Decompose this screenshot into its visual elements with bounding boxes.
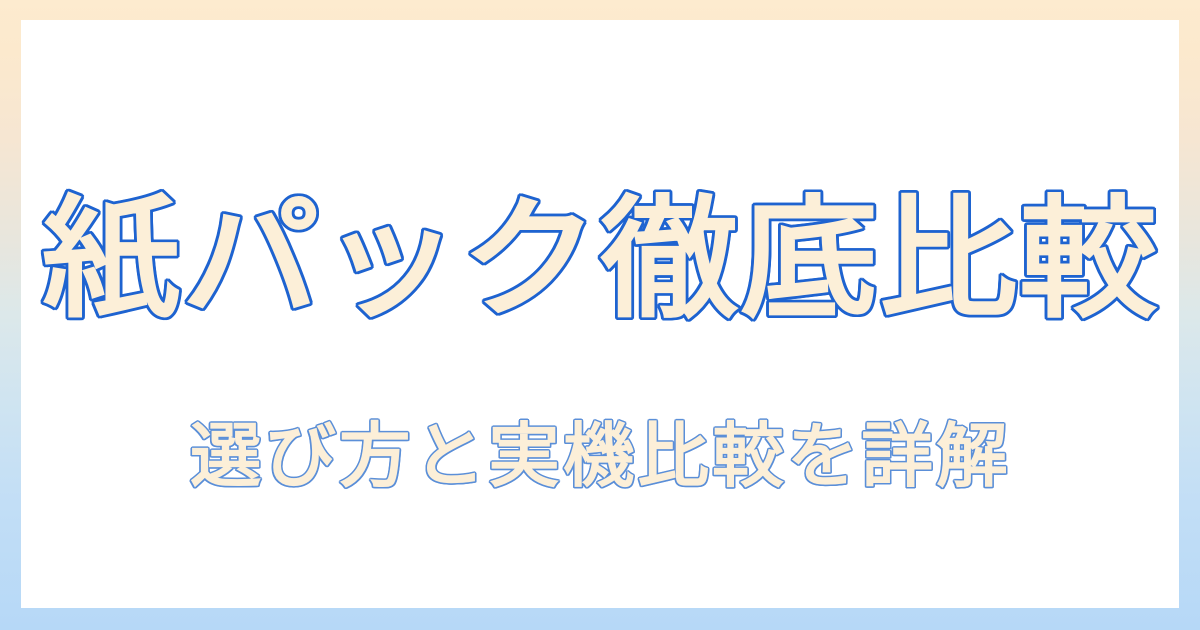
page-title: 紙パック徹底比較 xyxy=(42,194,1159,326)
og-image-frame: 紙パック徹底比較 選び方と実機比較を詳解 xyxy=(0,0,1200,630)
title-row: 紙パック徹底比較 xyxy=(21,172,1179,347)
subtitle-row: 選び方と実機比較を詳解 xyxy=(21,406,1179,506)
page-subtitle: 選び方と実機比較を詳解 xyxy=(190,421,1011,491)
content-card: 紙パック徹底比較 選び方と実機比較を詳解 xyxy=(21,20,1179,608)
